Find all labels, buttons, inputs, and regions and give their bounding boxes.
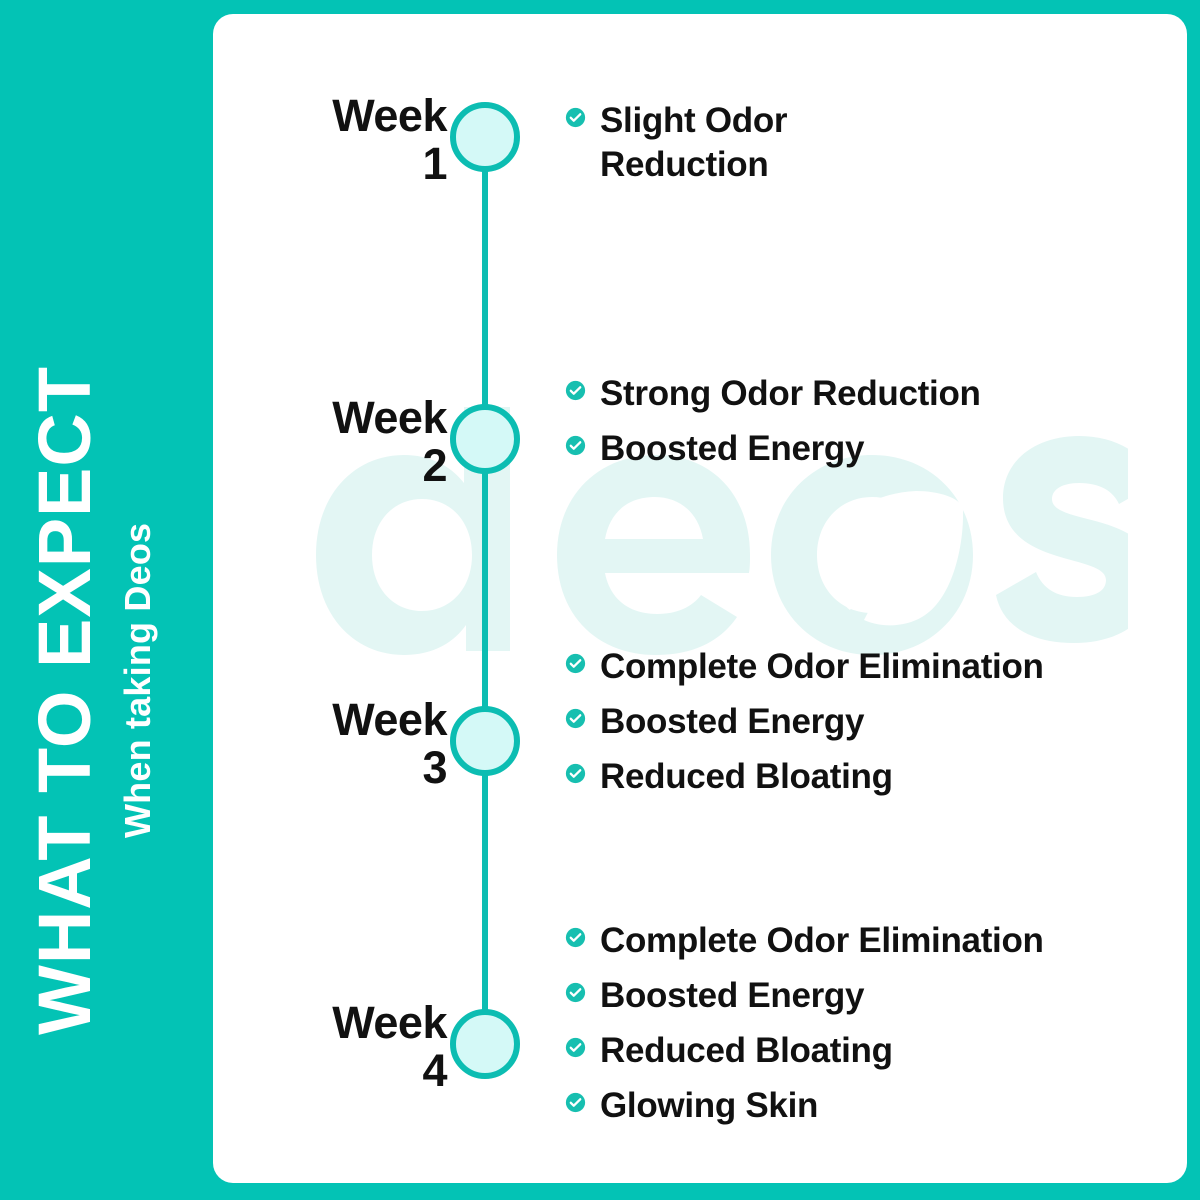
benefit-text: Reduced Bloating [600, 1029, 893, 1073]
week-word-4: Week [332, 997, 447, 1048]
week-word-1: Week [332, 90, 447, 141]
page-subtitle: When taking Deos [120, 523, 156, 838]
benefit-text: Complete Odor Elimination [600, 645, 1044, 689]
week-label-2: Week 2 [257, 394, 447, 489]
benefit-text: Glowing Skin [600, 1084, 818, 1128]
week-number-4: 4 [257, 1047, 447, 1095]
check-circle-icon [565, 982, 586, 1003]
list-item: Slight Odor Reduction [565, 99, 1165, 187]
page-title: WHAT TO EXPECT [28, 366, 102, 1035]
benefit-list-week-4: Complete Odor Elimination Boosted Energy [565, 919, 1165, 1128]
week-number-2: 2 [257, 442, 447, 490]
title-sidebar: WHAT TO EXPECT When taking Deos [0, 0, 213, 1200]
week-word-2: Week [332, 392, 447, 443]
benefit-list-week-1: Slight Odor Reduction [565, 99, 1165, 187]
week-label-3: Week 3 [257, 696, 447, 791]
benefit-text: Complete Odor Elimination [600, 919, 1044, 963]
check-circle-icon [565, 708, 586, 729]
benefit-text: Slight Odor Reduction [600, 99, 850, 187]
list-item: Boosted Energy [565, 974, 1165, 1018]
list-item: Glowing Skin [565, 1084, 1165, 1128]
infographic-canvas: WHAT TO EXPECT When taking Deos [0, 0, 1200, 1200]
benefit-text: Boosted Energy [600, 427, 864, 471]
check-circle-icon [565, 763, 586, 784]
check-circle-icon [565, 653, 586, 674]
list-item: Reduced Bloating [565, 755, 1165, 799]
list-item: Complete Odor Elimination [565, 919, 1165, 963]
benefit-text: Strong Odor Reduction [600, 372, 981, 416]
week-label-4: Week 4 [257, 999, 447, 1094]
list-item: Complete Odor Elimination [565, 645, 1165, 689]
leaf-icon [830, 491, 963, 625]
check-circle-icon [565, 380, 586, 401]
benefit-text: Boosted Energy [600, 700, 864, 744]
benefit-list-week-2: Strong Odor Reduction Boosted Energy [565, 372, 1165, 471]
check-circle-icon [565, 1092, 586, 1113]
week-label-1: Week 1 [257, 92, 447, 187]
timeline-node-icon [450, 706, 520, 776]
benefit-list-week-3: Complete Odor Elimination Boosted Energy [565, 645, 1165, 799]
benefit-text: Boosted Energy [600, 974, 864, 1018]
list-item: Boosted Energy [565, 700, 1165, 744]
list-item: Reduced Bloating [565, 1029, 1165, 1073]
list-item: Boosted Energy [565, 427, 1165, 471]
benefit-text: Reduced Bloating [600, 755, 893, 799]
content-card: Week 1 Slight Odor Reduction Week 2 [213, 14, 1187, 1183]
list-item: Strong Odor Reduction [565, 372, 1165, 416]
timeline-connector-line [482, 137, 488, 1044]
check-circle-icon [565, 1037, 586, 1058]
check-circle-icon [565, 435, 586, 456]
check-circle-icon [565, 107, 586, 128]
timeline-node-icon [450, 102, 520, 172]
week-word-3: Week [332, 694, 447, 745]
week-number-3: 3 [257, 744, 447, 792]
timeline-node-icon [450, 404, 520, 474]
week-number-1: 1 [257, 140, 447, 188]
timeline-node-icon [450, 1009, 520, 1079]
check-circle-icon [565, 927, 586, 948]
